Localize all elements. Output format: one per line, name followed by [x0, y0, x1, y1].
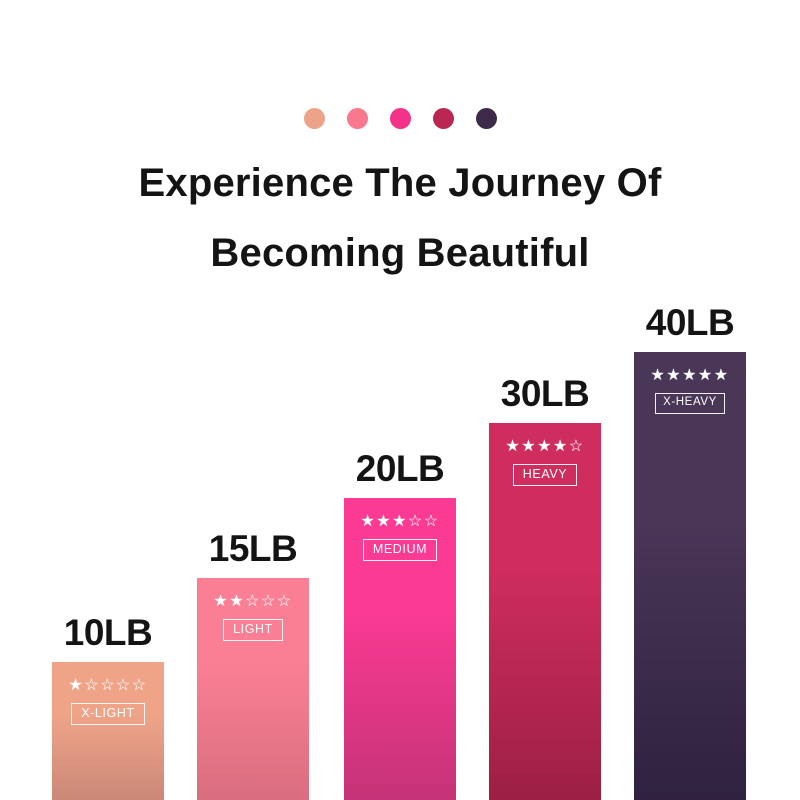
title-line-2: Becoming Beautiful: [0, 218, 800, 288]
bar-body: ★☆☆☆☆ X-LIGHT: [52, 662, 164, 800]
bar-weight-label: 20LB: [356, 450, 444, 487]
rating-stars: ★★★★☆: [505, 439, 584, 455]
bar-body: ★★★★★ X-HEAVY: [634, 352, 746, 800]
bar-column-light[interactable]: 15LB ★★☆☆☆ LIGHT: [197, 530, 309, 800]
title-line-1: Experience The Journey Of: [0, 148, 800, 218]
bar-column-medium[interactable]: 20LB ★★★☆☆ MEDIUM: [344, 450, 456, 800]
dot-x-light-icon: [304, 108, 325, 129]
rating-stars: ★★★★★: [650, 368, 729, 384]
dot-light-icon: [347, 108, 368, 129]
dot-medium-icon: [390, 108, 411, 129]
product-infographic: Experience The Journey Of Becoming Beaut…: [0, 0, 800, 800]
tier-badge: X-LIGHT: [71, 703, 145, 725]
bar-weight-label: 30LB: [501, 375, 589, 412]
tier-badge: LIGHT: [223, 619, 283, 641]
bar-body: ★★★★☆ HEAVY: [489, 423, 601, 800]
bar-weight-label: 40LB: [646, 304, 734, 341]
bar-body: ★★★☆☆ MEDIUM: [344, 498, 456, 800]
bar-body: ★★☆☆☆ LIGHT: [197, 578, 309, 800]
bar-column-x-heavy[interactable]: 40LB ★★★★★ X-HEAVY: [634, 304, 746, 800]
rating-stars: ★★★☆☆: [360, 514, 439, 530]
rating-stars: ★☆☆☆☆: [68, 678, 147, 694]
color-swatch-row: [0, 108, 800, 129]
dot-heavy-icon: [433, 108, 454, 129]
resistance-level-bar-chart: 10LB ★☆☆☆☆ X-LIGHT 15LB ★★☆☆☆ LIGHT 20LB…: [0, 330, 800, 800]
bar-weight-label: 15LB: [209, 530, 297, 567]
dot-x-heavy-icon: [476, 108, 497, 129]
tier-badge: X-HEAVY: [655, 393, 725, 414]
bar-column-x-light[interactable]: 10LB ★☆☆☆☆ X-LIGHT: [52, 614, 164, 800]
page-title: Experience The Journey Of Becoming Beaut…: [0, 148, 800, 288]
bar-column-heavy[interactable]: 30LB ★★★★☆ HEAVY: [489, 375, 601, 800]
bar-weight-label: 10LB: [64, 614, 152, 651]
tier-badge: MEDIUM: [363, 539, 437, 561]
tier-badge: HEAVY: [513, 464, 577, 486]
rating-stars: ★★☆☆☆: [213, 594, 292, 610]
